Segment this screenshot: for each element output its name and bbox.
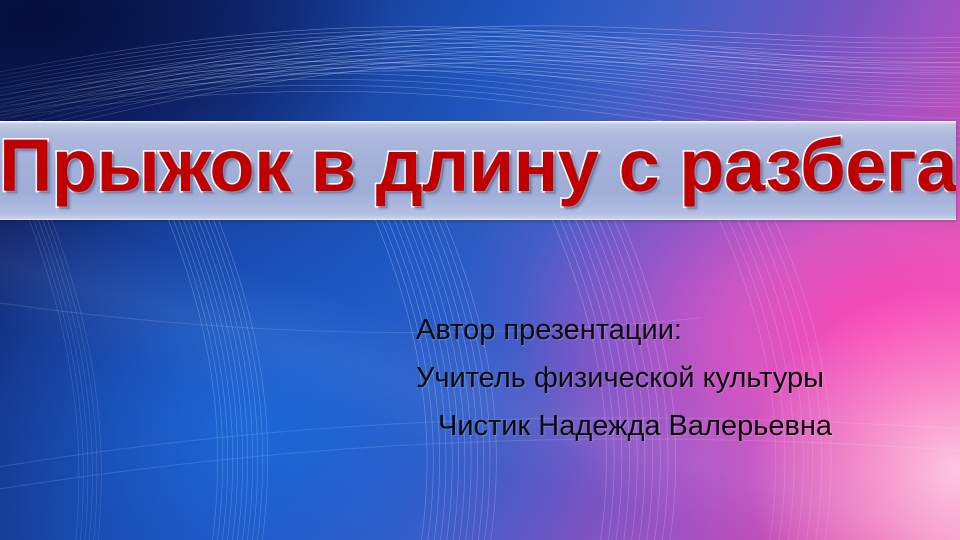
author-line-name: Чистик Надежда Валерьевна bbox=[416, 402, 944, 450]
page-title: Прыжок в длину с разбега bbox=[0, 129, 956, 209]
background-diagonal-sheen bbox=[0, 0, 960, 540]
title-banner: Прыжок в длину с разбега bbox=[0, 121, 956, 220]
background-magenta-glow bbox=[0, 0, 960, 540]
background-dark-corner-glow bbox=[0, 0, 960, 540]
background-violet-glow bbox=[0, 0, 960, 540]
background-blue-glow bbox=[0, 0, 960, 540]
author-line-role: Учитель физической культуры bbox=[416, 354, 944, 402]
background-light-pink-glow bbox=[0, 0, 960, 540]
author-block: Автор презентации: Учитель физической ку… bbox=[416, 306, 944, 450]
presentation-slide: Прыжок в длину с разбега Автор презентац… bbox=[0, 0, 960, 540]
wave-mesh-icon bbox=[0, 0, 960, 540]
author-line-label: Автор презентации: bbox=[416, 306, 944, 354]
slide-background-gradient bbox=[0, 0, 960, 540]
